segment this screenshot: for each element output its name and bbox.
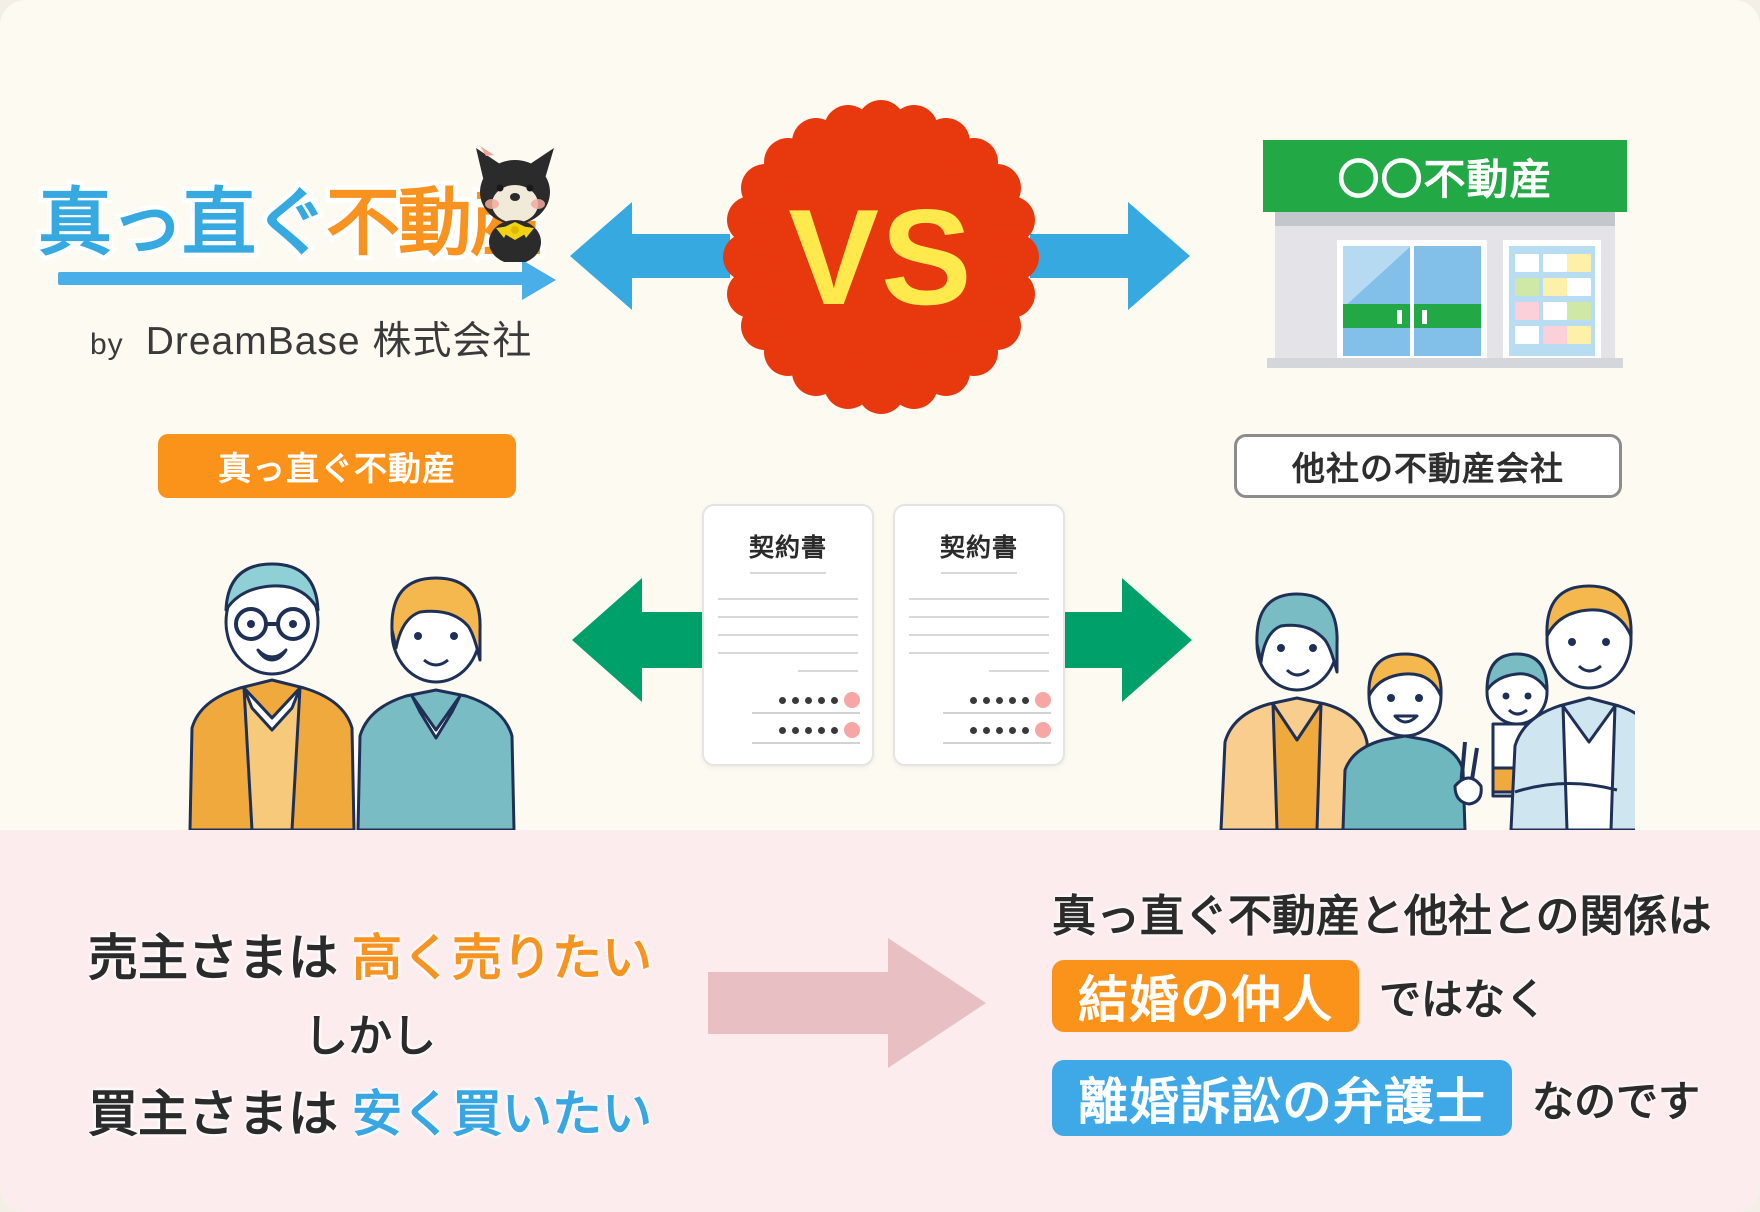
brand-byline: byDreamBase 株式会社 (90, 310, 610, 366)
door-pane-right (1414, 246, 1481, 356)
label-other-company-text: 他社の不動産会社 (1292, 442, 1564, 490)
buyer-statement-prefix: 買主さまは (88, 1086, 352, 1142)
logo-arrow-icon (522, 260, 556, 300)
logo-underline-bar (58, 272, 528, 285)
storefront-base (1267, 358, 1623, 368)
competitor-storefront: 〇〇不動産 (1245, 140, 1625, 390)
logo-text-primary: 真っ直ぐ (38, 181, 326, 264)
seller-statement: 売主さまは 高く売りたい (60, 918, 680, 990)
byline-company-name: DreamBase 株式会社 (146, 320, 533, 363)
storefront-door (1337, 240, 1487, 362)
window-poster (1567, 302, 1591, 320)
seller-statement-highlight: 高く売りたい (352, 930, 652, 986)
storefront-window (1503, 240, 1601, 362)
however-connector: しかし (60, 1000, 680, 1064)
pill-divorce-lawyer-tail: なのです (1532, 1068, 1700, 1129)
pill-divorce-lawyer: 離婚訴訟の弁護士 (1052, 1060, 1512, 1136)
window-poster (1567, 278, 1591, 296)
signature-row (970, 692, 1051, 708)
signature-row (970, 722, 1051, 738)
relationship-row-matchmaker: 結婚の仲人 ではなく (1052, 960, 1547, 1032)
elderly-couple-illustration (180, 548, 520, 830)
storefront-facade (1275, 226, 1615, 358)
signature-row (779, 692, 860, 708)
byline-by-label: by (90, 328, 124, 361)
infographic-canvas: 真っ直ぐ不動産 byDreamBase 株式会社 (0, 0, 1760, 1212)
seller-statement-prefix: 売主さまは (88, 930, 352, 986)
window-poster (1515, 278, 1539, 296)
storefront-awning (1275, 212, 1615, 226)
seal-stamp-icon (1035, 692, 1051, 708)
storefront-sign-label: 〇〇不動産 (1337, 146, 1552, 207)
buyer-statement: 買主さまは 安く買いたい (60, 1074, 680, 1146)
window-poster (1567, 326, 1591, 344)
contract-title: 契約書 (704, 528, 872, 564)
door-handle-right (1422, 310, 1427, 324)
window-poster (1543, 326, 1567, 344)
relationship-row-lawyer: 離婚訴訟の弁護士 なのです (1052, 1060, 1700, 1136)
contract-title: 契約書 (895, 528, 1063, 564)
window-poster (1515, 254, 1539, 272)
contract-document: 契約書 (702, 504, 874, 766)
window-glass (1509, 246, 1595, 356)
glass-glare (1343, 246, 1410, 308)
label-other-company: 他社の不動産会社 (1234, 434, 1622, 498)
window-poster (1515, 302, 1539, 320)
window-poster (1567, 254, 1591, 272)
label-our-company-text: 真っ直ぐ不動産 (218, 442, 456, 490)
relationship-heading: 真っ直ぐ不動産と他社との関係は (1052, 880, 1712, 944)
versus-badge: VS (716, 92, 1046, 422)
storefront-sign: 〇〇不動産 (1263, 140, 1627, 212)
seal-stamp-icon (844, 722, 860, 738)
right-arrow-icon (708, 938, 986, 1068)
signature-row (779, 722, 860, 738)
window-poster (1543, 302, 1567, 320)
pill-matchmaker-label: 結婚の仲人 (1078, 960, 1333, 1032)
contract-document: 契約書 (893, 504, 1065, 766)
versus-badge-label: VS (716, 92, 1046, 422)
door-handle-left (1397, 310, 1402, 324)
seal-stamp-icon (844, 692, 860, 708)
door-pane-left (1343, 246, 1410, 356)
dog-mascot-icon (470, 142, 562, 262)
seal-stamp-icon (1035, 722, 1051, 738)
buyer-statement-highlight: 安く買いたい (352, 1086, 652, 1142)
blue-arrow-right-icon (1030, 196, 1190, 316)
blue-arrow-left-icon (570, 196, 730, 316)
pill-divorce-lawyer-label: 離婚訴訟の弁護士 (1078, 1062, 1486, 1134)
label-our-company: 真っ直ぐ不動産 (158, 434, 516, 498)
pill-matchmaker: 結婚の仲人 (1052, 960, 1359, 1032)
young-family-illustration (1215, 556, 1635, 830)
window-poster (1543, 254, 1567, 272)
window-poster (1543, 278, 1567, 296)
pill-matchmaker-tail: ではなく (1379, 966, 1547, 1027)
window-poster (1515, 326, 1539, 344)
